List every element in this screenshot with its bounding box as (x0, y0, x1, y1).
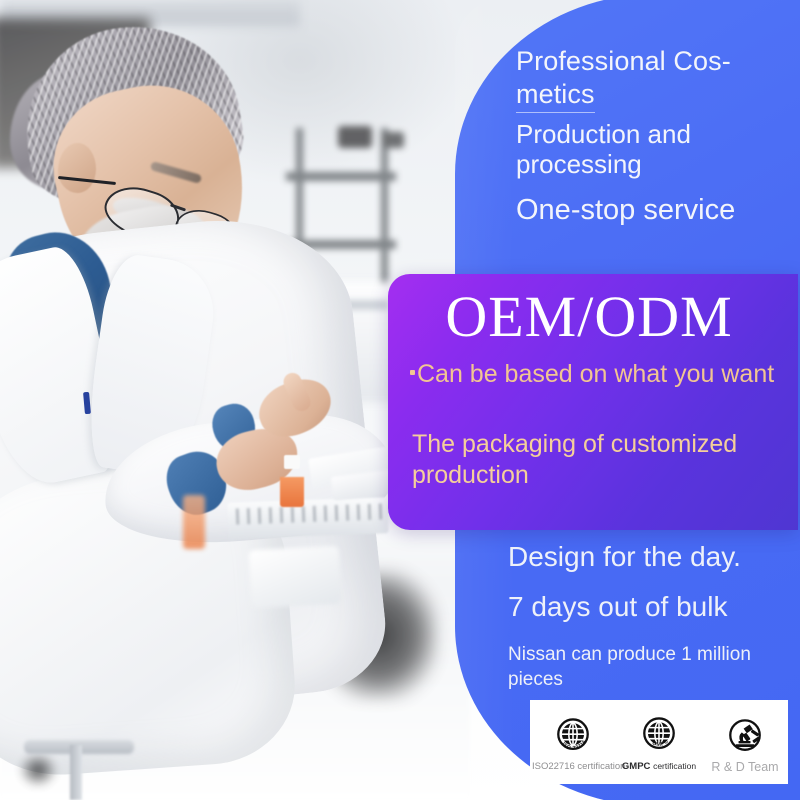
orange-bottle-blurred (183, 495, 205, 549)
certification-gmpc: GMPC GMPC certification (618, 711, 700, 773)
banner-root: Professional Cos- metics Production and … (0, 0, 800, 800)
card-bullet-1: Can be based on what you want (410, 359, 782, 390)
certification-caption-thin: certification (653, 761, 696, 771)
bullet-dot-icon (410, 370, 415, 375)
oem-odm-card: OEM/ODM Can be based on what you want Th… (388, 274, 798, 530)
certification-caption: ISO22716 certification (532, 761, 614, 773)
globe-icon: GMPC (618, 711, 700, 759)
headline-production-processing: Production and processing (516, 119, 791, 179)
bottom-text-block: Design for the day. 7 days out of bulk N… (508, 540, 800, 692)
tagline-design-for-the-day: Design for the day. (508, 540, 800, 574)
certification-caption: R & D Team (704, 761, 786, 773)
sample-vial-cap (284, 455, 300, 469)
certification-caption-bold: GMPC (622, 761, 651, 772)
headline-line-1a: Professional Cos- (516, 46, 731, 76)
sample-pouch (249, 546, 342, 609)
stool-post (70, 745, 82, 800)
card-bullet-1-text: Can be based on what you want (417, 360, 774, 388)
headline-one-stop-service: One-stop service (516, 193, 791, 227)
certification-strip: ISO 22716 ISO22716 certification (530, 700, 788, 784)
ear (58, 143, 96, 193)
stool-shadow (18, 752, 58, 788)
headline-professional-cosmetics: Professional Cos- metics (516, 45, 791, 111)
certification-iso22716: ISO 22716 ISO22716 certification (532, 712, 614, 773)
certification-caption: GMPC certification (618, 760, 700, 773)
globe-icon: ISO 22716 (532, 712, 614, 760)
certification-rd-team: R & D Team (704, 712, 786, 773)
top-text-block: Professional Cos- metics Production and … (516, 45, 791, 227)
capacity-note: Nissan can produce 1 million pieces (508, 642, 800, 692)
headline-line-2b: processing (516, 149, 642, 179)
headline-line-2a: Production and (516, 119, 691, 149)
card-bullet-2: The packaging of customized production (412, 429, 794, 491)
tagline-7-days-out-of-bulk: 7 days out of bulk (508, 590, 800, 624)
oem-odm-title: OEM/ODM (388, 284, 790, 350)
sample-vial-liquid (280, 477, 304, 507)
microscope-icon (704, 712, 786, 760)
headline-line-1b: metics (516, 79, 595, 113)
